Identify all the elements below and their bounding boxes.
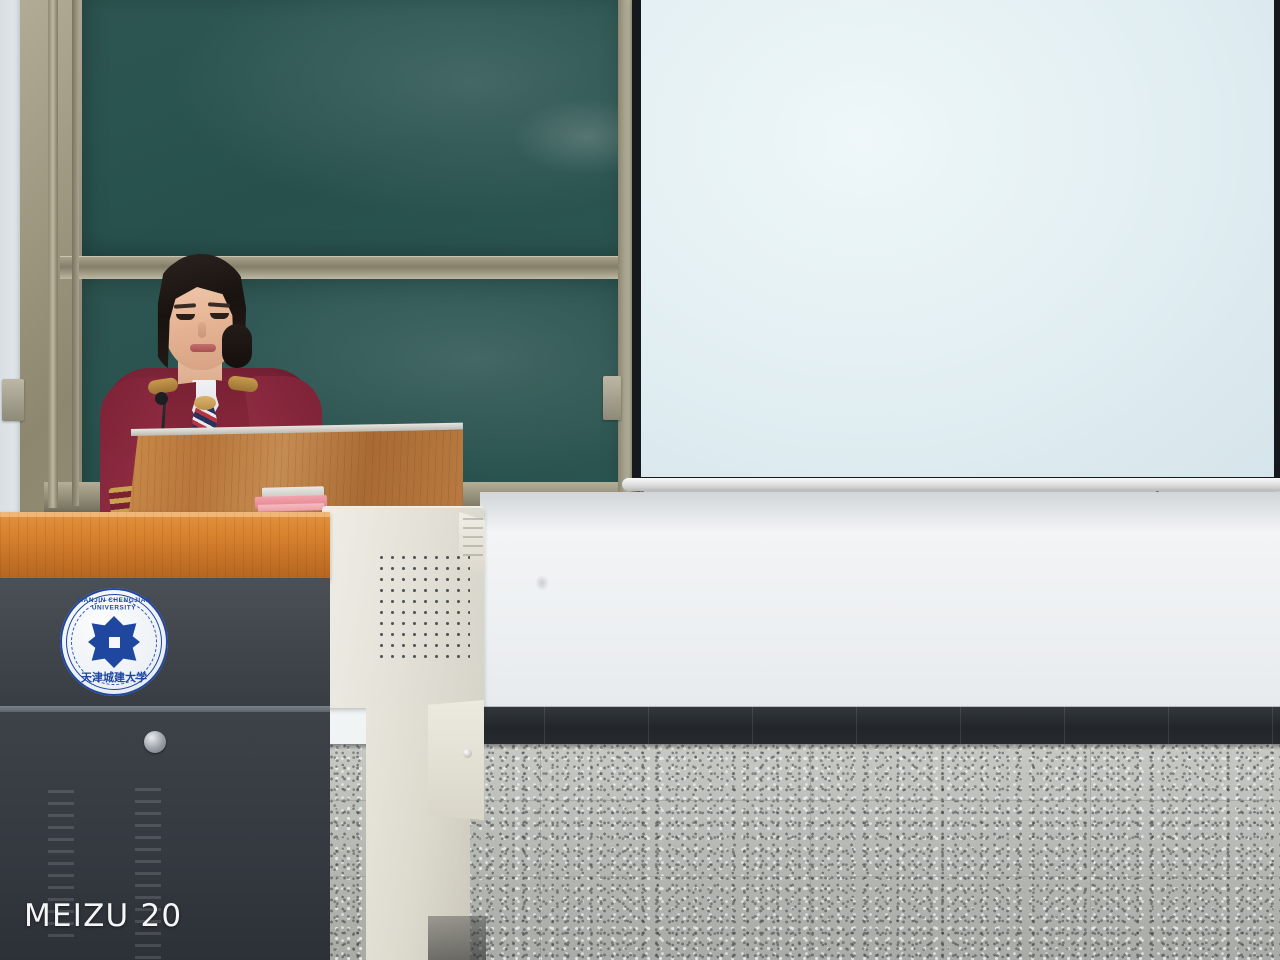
podium-vent-right bbox=[135, 788, 161, 960]
blackboard-slide-clip-right bbox=[603, 376, 621, 420]
console-leg-panel bbox=[428, 700, 484, 820]
projection-screen: 天津轨道交通3号线，是天津市 快速轨道交通网中的南北骨干线。 2012年10月1… bbox=[641, 0, 1274, 477]
presenter-scarf-knot bbox=[194, 396, 216, 410]
wall-scuff-mark bbox=[535, 575, 549, 591]
lower-wall-shadow bbox=[480, 492, 1280, 532]
university-seal: TIANJIN CHENGJIAN UNIVERSITY 天津城建大学 bbox=[60, 588, 168, 696]
podium-door-lock bbox=[144, 731, 166, 753]
seal-english-name: TIANJIN CHENGJIAN UNIVERSITY bbox=[60, 597, 168, 612]
projection-screen-roller bbox=[622, 478, 1280, 491]
speaker-grille-icon bbox=[376, 552, 470, 664]
console-screw bbox=[463, 749, 472, 758]
presenter-nose bbox=[198, 322, 206, 338]
baseboard-top-edge bbox=[440, 704, 1280, 707]
blackboard-left-rail bbox=[48, 0, 58, 508]
blackboard-left-rail-inner bbox=[72, 0, 79, 506]
seal-emblem-core bbox=[109, 637, 120, 648]
blackboard-slide-clip-left bbox=[2, 379, 24, 421]
seal-chinese-name: 天津城建大学 bbox=[60, 669, 168, 685]
presenter-eye-right bbox=[210, 313, 229, 319]
podium-wood-rail-highlight bbox=[0, 512, 330, 517]
camera-watermark: MEIZU 20 bbox=[24, 898, 182, 934]
console-floor-shadow bbox=[428, 916, 486, 960]
microphone-head-icon bbox=[155, 392, 168, 405]
presenter-mouth bbox=[190, 344, 216, 352]
photo-scene: 天津轨道交通3号线，是天津市 快速轨道交通网中的南北骨干线。 2012年10月1… bbox=[0, 0, 1280, 960]
presenter-hair-tie bbox=[222, 324, 252, 368]
blackboard-upper-pane bbox=[82, 0, 627, 256]
podium-wood-rail-grain bbox=[0, 512, 330, 580]
presenter-eye-left bbox=[176, 314, 195, 320]
